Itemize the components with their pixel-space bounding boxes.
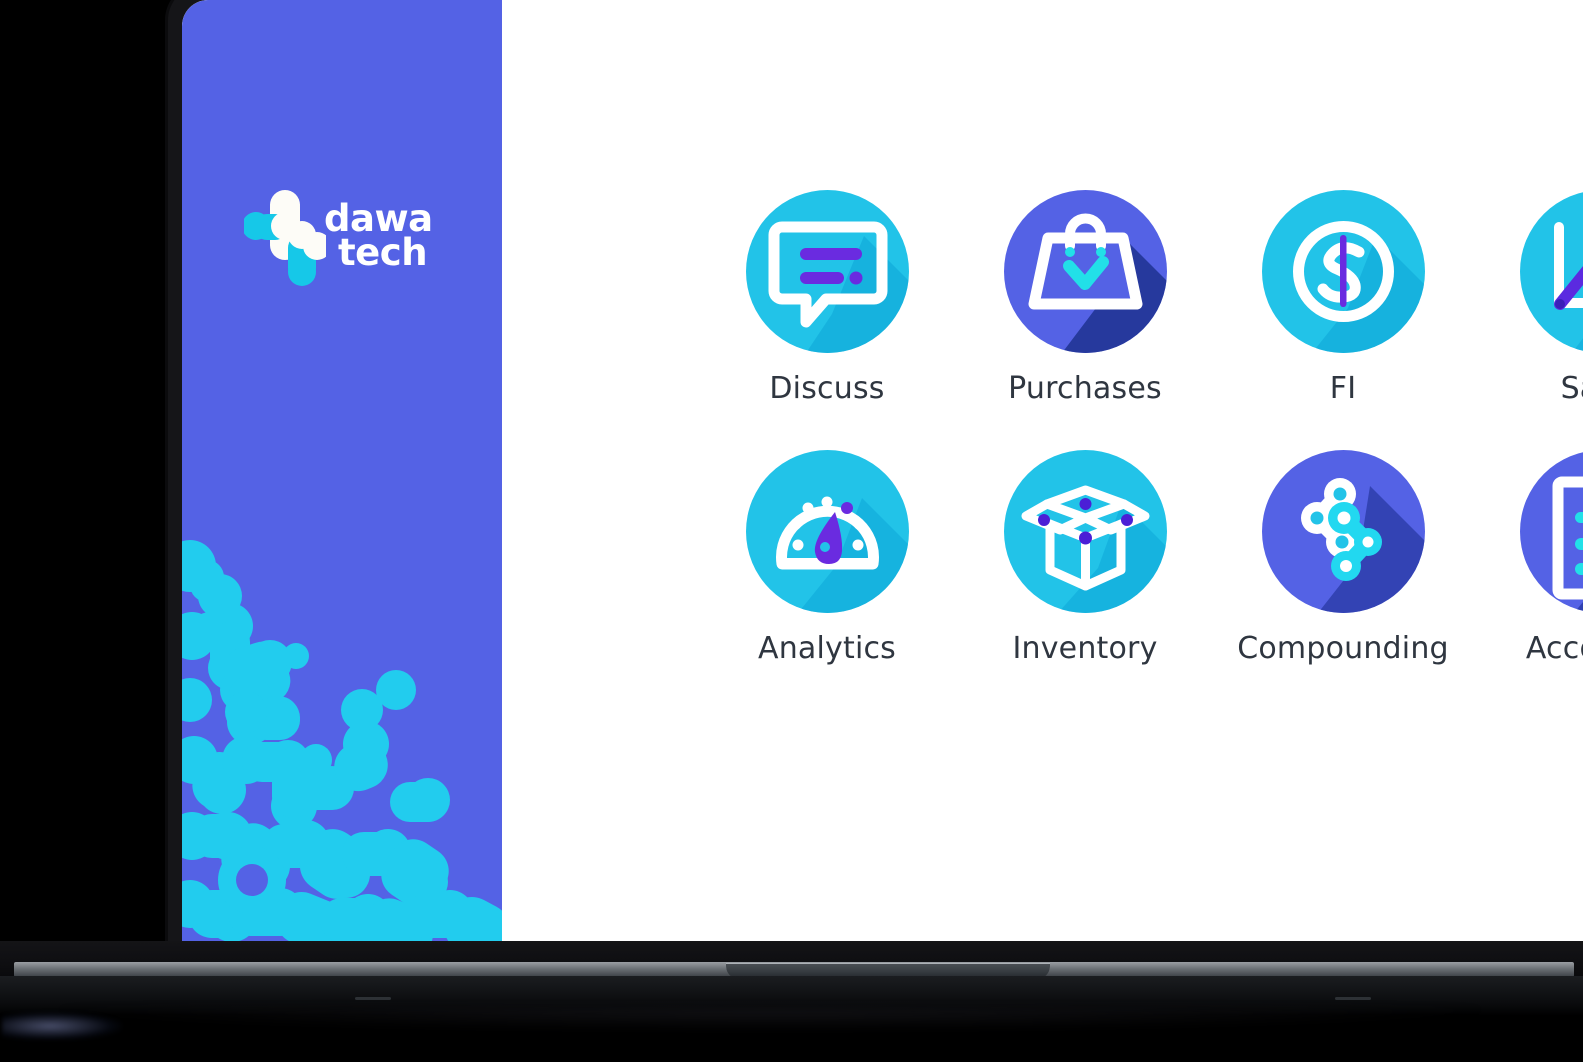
dawa-tech-logo-text: dawa tech xyxy=(324,202,433,271)
app-label-analytics: Analytics xyxy=(758,631,896,666)
laptop-shadow-highlight xyxy=(2,1012,122,1040)
app-label-accounting: Accountin xyxy=(1526,631,1583,666)
sidebar: dawa tech xyxy=(182,0,502,944)
app-row-1: Discuss xyxy=(698,190,1583,406)
accounting-icon-wrap[interactable] xyxy=(1520,450,1583,613)
app-label-fi: FI xyxy=(1330,371,1357,406)
app-label-sales: Sales xyxy=(1561,371,1583,406)
sidebar-logo: dawa tech xyxy=(244,188,439,293)
app-label-discuss: Discuss xyxy=(769,371,884,406)
app-tile-compounding[interactable]: Compounding xyxy=(1214,450,1472,666)
growth-chart-arrow-icon xyxy=(1520,190,1583,353)
sales-icon-wrap[interactable] xyxy=(1520,190,1583,353)
discuss-icon-wrap[interactable] xyxy=(746,190,909,353)
laptop-shadow xyxy=(60,1008,1480,1030)
compounding-icon-wrap[interactable] xyxy=(1262,450,1425,613)
purchases-icon-wrap[interactable] xyxy=(1004,190,1167,353)
app-grid: Discuss xyxy=(502,0,1583,944)
app-tile-accounting[interactable]: Accountin xyxy=(1472,450,1583,666)
logo-word-tech: tech xyxy=(338,236,433,270)
app-label-inventory: Inventory xyxy=(1012,631,1157,666)
fi-icon-wrap[interactable] xyxy=(1262,190,1425,353)
analytics-icon-wrap[interactable] xyxy=(746,450,909,613)
shopping-bag-check-icon xyxy=(1004,190,1167,353)
app-tile-analytics[interactable]: Analytics xyxy=(698,450,956,666)
app-row-2: Analytics xyxy=(698,450,1583,666)
app-tile-purchases[interactable]: Purchases xyxy=(956,190,1214,406)
laptop-foot-right xyxy=(1335,997,1371,1000)
app-tile-sales[interactable]: Sales xyxy=(1472,190,1583,406)
gauge-meter-icon xyxy=(746,450,909,613)
app-label-compounding: Compounding xyxy=(1237,631,1449,666)
dollar-coin-icon xyxy=(1262,190,1425,353)
inventory-icon-wrap[interactable] xyxy=(1004,450,1167,613)
dawa-tech-logo-mark-icon xyxy=(244,188,326,288)
laptop-mockup: dawa tech xyxy=(0,0,1583,1062)
app-tile-fi[interactable]: FI xyxy=(1214,190,1472,406)
laptop-screen: dawa tech xyxy=(182,0,1583,944)
sidebar-dot-pattern-decoration xyxy=(182,0,502,944)
molecule-nodes-icon xyxy=(1262,450,1425,613)
app-label-purchases: Purchases xyxy=(1008,371,1162,406)
app-tile-inventory[interactable]: Inventory xyxy=(956,450,1214,666)
speech-bubble-icon xyxy=(746,190,909,353)
laptop-foot-left xyxy=(355,997,391,1000)
document-lines-icon xyxy=(1520,450,1583,613)
open-box-icon xyxy=(1004,450,1167,613)
app-tile-discuss[interactable]: Discuss xyxy=(698,190,956,406)
